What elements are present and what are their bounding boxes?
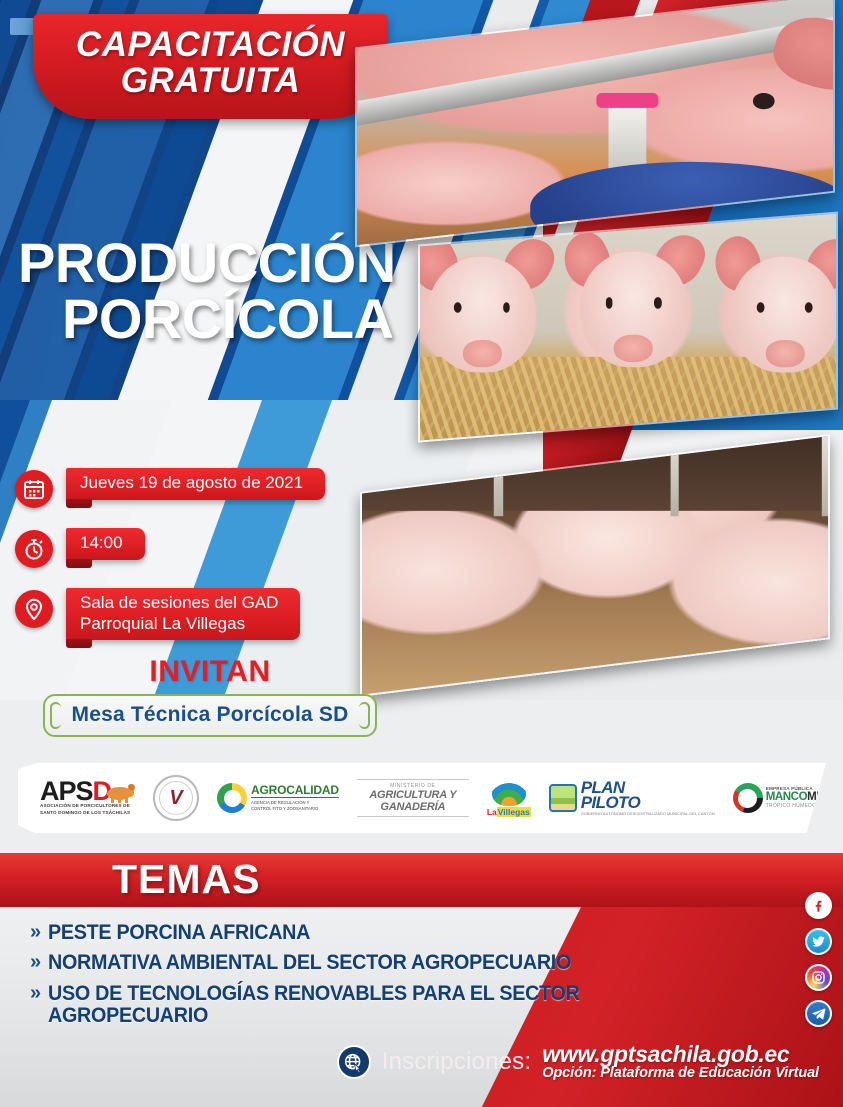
topic-item: » USO DE TECNOLOGÍAS RENOVABLES PARA EL … (30, 983, 730, 1028)
topic-label: PESTE PORCINA AFRICANA (48, 922, 310, 944)
registration-footer: Inscripciones: www.gptsachila.gob.ec Opc… (337, 1043, 819, 1081)
la-villegas-wordmark: LaVillegas (487, 807, 531, 817)
event-date-ribbon: Jueves 19 de agosto de 2021 (66, 468, 325, 500)
apsd-acronym-main: APS (40, 780, 93, 803)
logo-veterinary-seal: V (153, 775, 199, 821)
logo-la-villegas: LaVillegas (487, 780, 531, 817)
veterinary-seal-mark: V (169, 787, 182, 810)
pig-eye (752, 94, 774, 110)
topics-list: » PESTE PORCINA AFRICANA » NORMATIVA AMB… (30, 922, 730, 1035)
event-date-row: Jueves 19 de agosto de 2021 (0, 468, 325, 508)
calendar-icon (15, 470, 53, 508)
logo-agrocalidad: AGROCALIDAD AGENCIA DE REGULACIÓN Y CONT… (217, 783, 339, 813)
plan-piloto-subtitle: GOBIERNO AUTÓNOMO DESCENTRALIZADO MUNICI… (581, 813, 715, 816)
event-time-row: 14:00 (0, 528, 145, 568)
agrocalidad-subtitle: AGENCIA DE REGULACIÓN Y CONTROL FITO Y Z… (251, 800, 339, 812)
la-villegas-prefix: La (487, 807, 497, 817)
apsd-acronym: APS D (40, 780, 135, 803)
plan-piloto-line2: PILOTO (581, 795, 715, 811)
mancomunada-line2b: MUNADA (807, 791, 843, 803)
temas-heading: TEMAS (112, 856, 261, 903)
temas-band: TEMAS (0, 853, 843, 907)
instagram-icon[interactable] (805, 964, 832, 991)
pig-ear (767, 5, 835, 102)
photo-artwork (418, 211, 838, 442)
la-villegas-mark-icon (492, 780, 526, 806)
event-place-ribbon: Sala de sesiones del GAD Parroquial La V… (66, 588, 300, 640)
logo-mancomunada: EMPRESA PÚBLICA MANCOMUNADA TRÓPICO HÚME… (733, 783, 843, 813)
badge-line1: CAPACITACIÓN (76, 27, 345, 63)
topic-label: NORMATIVA AMBIENTAL DEL SECTOR AGROPECUA… (48, 952, 571, 974)
social-icons (805, 892, 832, 1027)
topic-marker-icon: » (30, 983, 41, 1004)
title-line2: PORCÍCOLA (62, 291, 448, 347)
stopwatch-icon (15, 530, 53, 568)
free-training-badge: CAPACITACIÓN GRATUITA (33, 14, 388, 119)
drinker-nipple (608, 104, 647, 173)
ministerio-line2: AGRICULTURA Y GANADERÍA (357, 789, 469, 817)
mancomunada-line2: MANCOMUNADA (766, 792, 843, 804)
globe-cursor-icon (337, 1045, 371, 1079)
event-place-row: Sala de sesiones del GAD Parroquial La V… (0, 588, 300, 640)
la-villegas-suffix: Villegas (497, 807, 531, 817)
invitan-section: INVITAN Mesa Técnica Porcícola SD (0, 655, 420, 737)
logo-ministerio-agricultura: MINISTERIO DE AGRICULTURA Y GANADERÍA (357, 779, 469, 817)
mancomunada-ring-icon (733, 783, 763, 813)
twitter-icon[interactable] (805, 928, 832, 955)
location-pin-icon (15, 590, 53, 628)
registration-links: www.gptsachila.gob.ec Opción: Plataforma… (542, 1043, 819, 1081)
agrocalidad-title: AGROCALIDAD (251, 784, 339, 798)
registration-option: Opción: Plataforma de Educación Virtual (542, 1066, 819, 1081)
piglet-eye (654, 298, 662, 308)
organizer-frame: Mesa Técnica Porcícola SD (43, 694, 377, 737)
topic-item: » PESTE PORCINA AFRICANA (30, 922, 730, 944)
apsd-lockup: APS D ASOCIACIÓN DE PORCICULTORES DE SAN… (40, 780, 135, 817)
badge-line2: GRATUITA (121, 63, 301, 99)
invitan-heading: INVITAN (0, 655, 420, 689)
registration-label: Inscripciones: (382, 1048, 532, 1076)
veterinary-seal-icon: V (153, 775, 199, 821)
agrocalidad-ring-icon (217, 783, 247, 813)
plan-piloto-text: PLAN PILOTO GOBIERNO AUTÓNOMO DESCENTRAL… (581, 780, 715, 817)
facebook-icon[interactable] (805, 892, 832, 919)
ministerio-line1: MINISTERIO DE (357, 779, 469, 789)
piglet-snout (462, 340, 501, 368)
topic-marker-icon: » (30, 922, 41, 943)
piglet-snout (765, 340, 804, 368)
agrocalidad-text: AGROCALIDAD AGENCIA DE REGULACIÓN Y CONT… (251, 784, 339, 812)
piglet-eye (605, 298, 613, 308)
mancomunada-line2a: MANCO (766, 791, 807, 803)
pen-post (821, 434, 830, 517)
page-title: PRODUCCIÓN PORCÍCOLA (18, 235, 448, 347)
pig-silhouette-icon (105, 783, 135, 803)
piglet (428, 256, 536, 372)
piglet (579, 251, 687, 367)
registration-url[interactable]: www.gptsachila.gob.ec (542, 1043, 819, 1066)
apsd-subtitle: ASOCIACIÓN DE PORCICULTORES DE SANTO DOM… (40, 803, 135, 817)
logo-apsd: APS D ASOCIACIÓN DE PORCICULTORES DE SAN… (40, 780, 135, 817)
plan-piloto-mark-icon (549, 784, 577, 812)
three-piglets-photo (418, 211, 838, 442)
event-time-ribbon: 14:00 (66, 528, 145, 560)
mancomunada-line3: TRÓPICO HÚMEDO (766, 804, 843, 809)
sponsor-logo-strip: APS D ASOCIACIÓN DE PORCICULTORES DE SAN… (18, 763, 826, 833)
poster: CAPACITACIÓN GRATUITA PRODUCCIÓN PORCÍCO… (0, 0, 843, 1107)
topic-marker-icon: » (30, 952, 41, 973)
telegram-icon[interactable] (805, 1000, 832, 1027)
topic-label: USO DE TECNOLOGÍAS RENOVABLES PARA EL SE… (48, 983, 612, 1028)
topic-item: » NORMATIVA AMBIENTAL DEL SECTOR AGROPEC… (30, 952, 730, 974)
piglet-snout (614, 335, 653, 363)
mancomunada-text: EMPRESA PÚBLICA MANCOMUNADA TRÓPICO HÚME… (766, 787, 843, 808)
organizer-name: Mesa Técnica Porcícola SD (72, 703, 349, 726)
piglet (731, 256, 838, 372)
logo-plan-piloto: PLAN PILOTO GOBIERNO AUTÓNOMO DESCENTRAL… (549, 780, 715, 817)
